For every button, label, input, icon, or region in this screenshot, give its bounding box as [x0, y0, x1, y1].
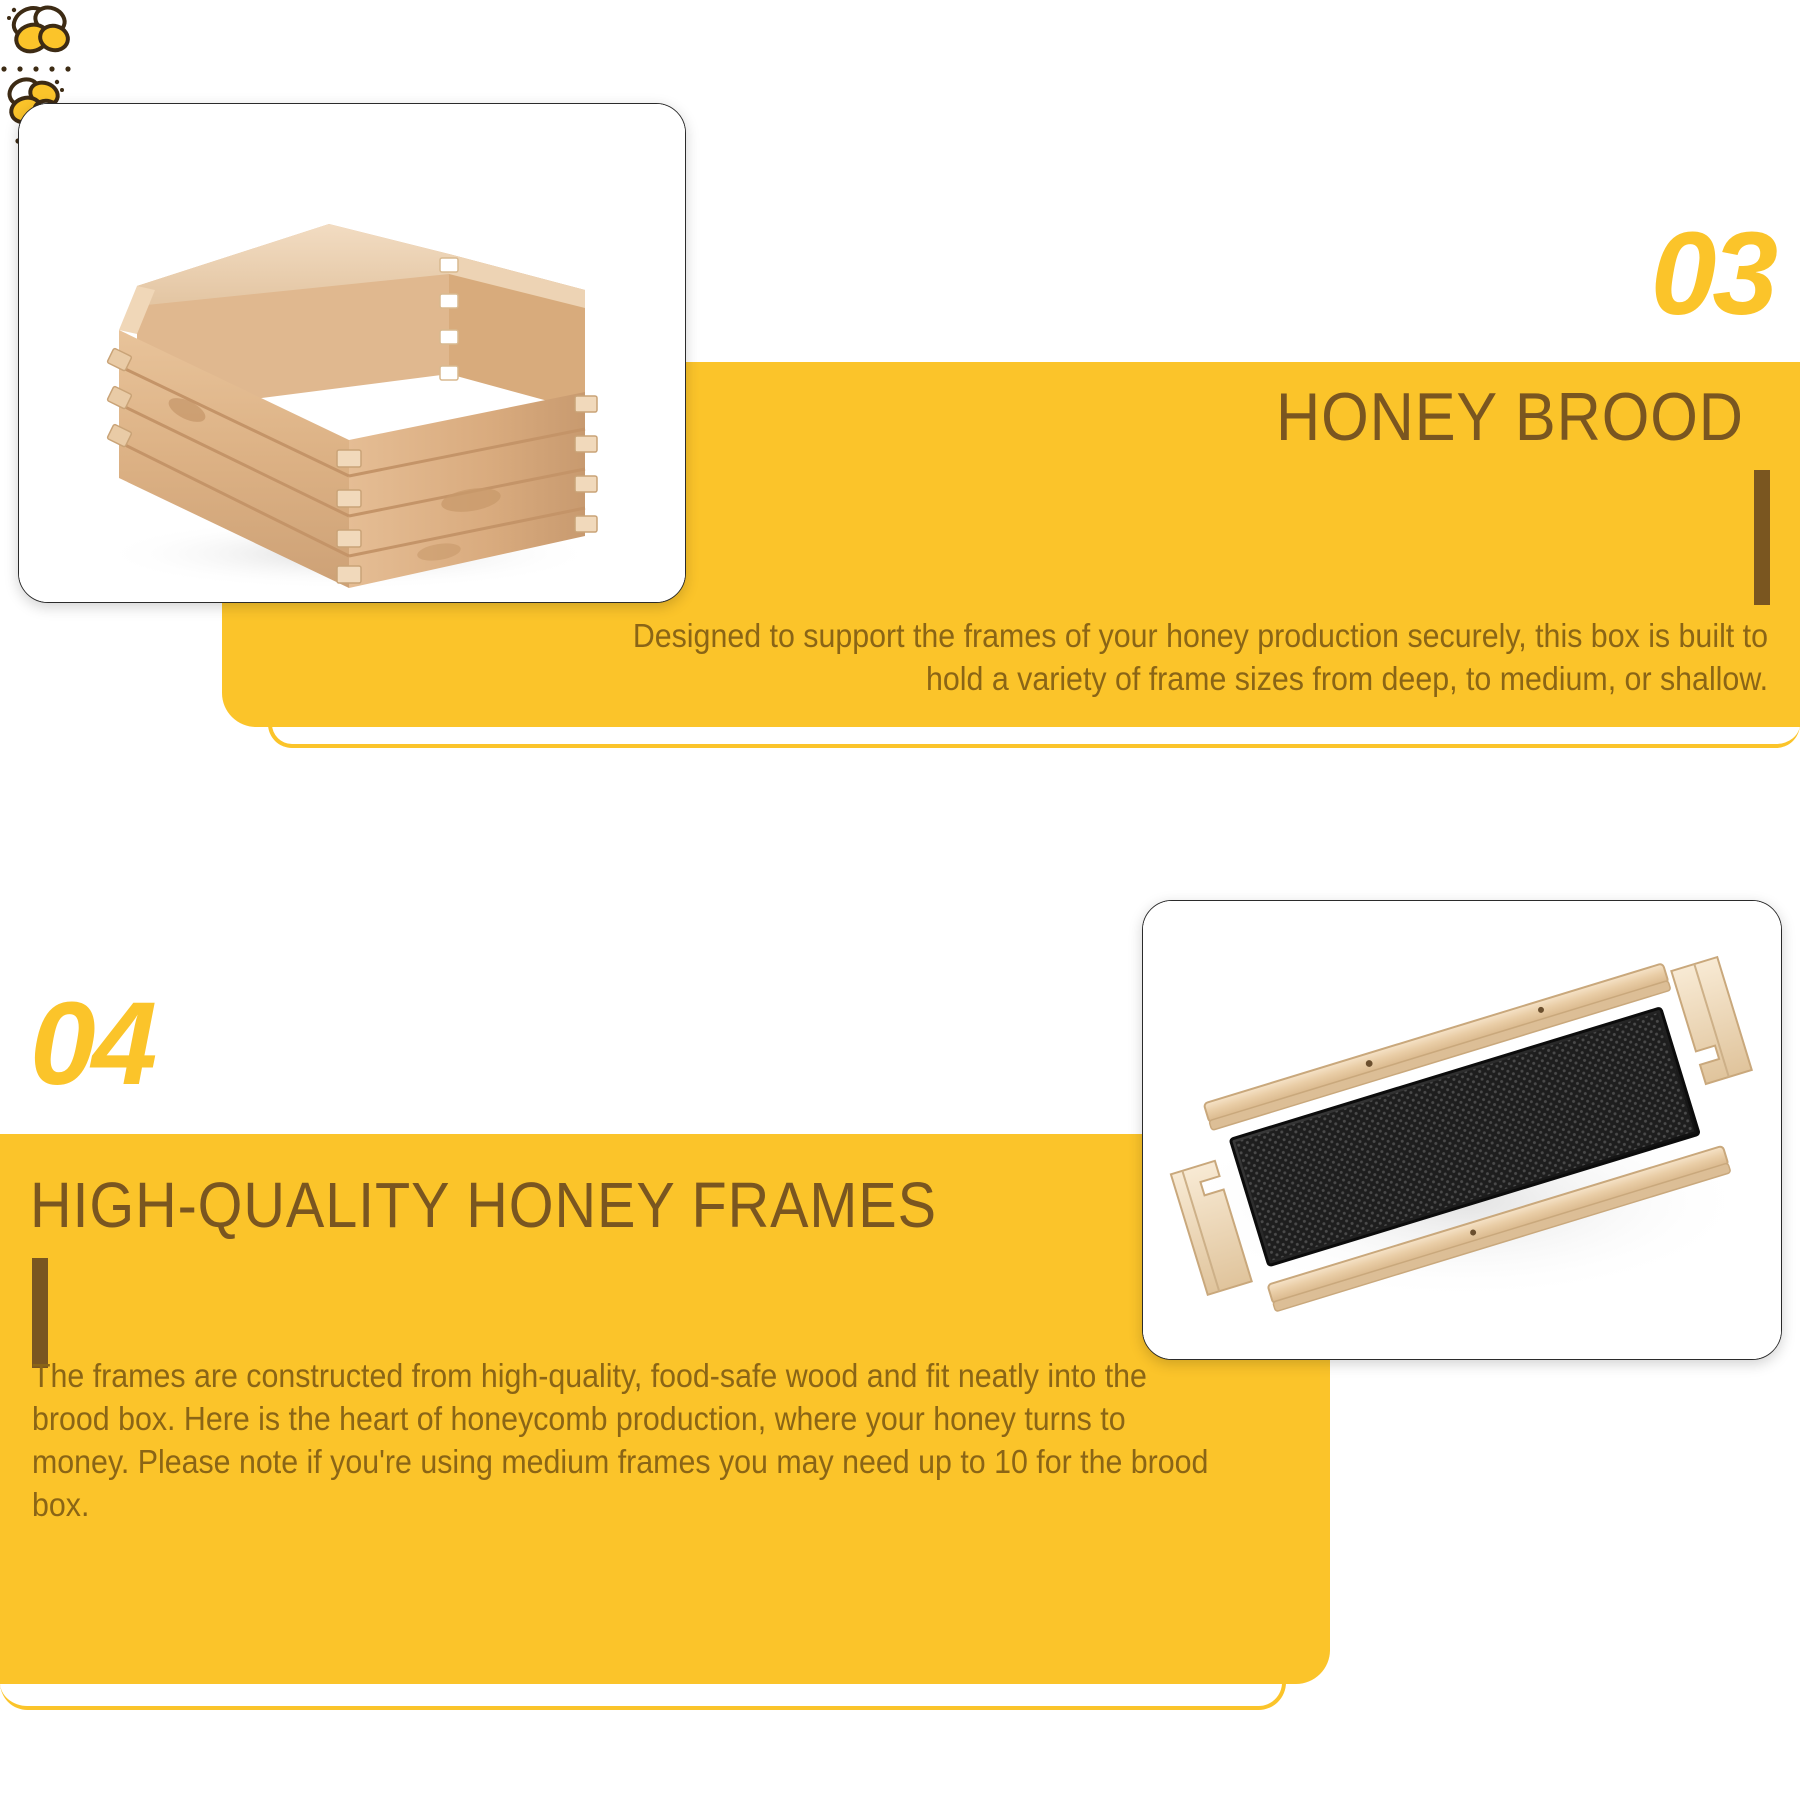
product-image-card-04: [1142, 900, 1782, 1360]
accent-bar-04: [32, 1258, 48, 1368]
dotted-trail-glyph: [0, 60, 86, 74]
section-body-04: The frames are constructed from high-qua…: [32, 1355, 1219, 1527]
section-title-03: HONEY BROOD: [1276, 378, 1744, 456]
brood-box-illustration: [19, 104, 686, 603]
section-number-03: 03: [1651, 215, 1774, 333]
brood-box-photo: [19, 104, 685, 602]
infographic-page: 03 HONEY BROOD: [0, 0, 1800, 1800]
honey-frame-illustration: [1143, 901, 1782, 1360]
section-number-04: 04: [30, 985, 153, 1103]
accent-bar-03: [1754, 470, 1770, 605]
bee-glyph: [0, 0, 76, 60]
dotted-trail-icon: [0, 60, 86, 74]
section-body-03: Designed to support the frames of your h…: [572, 615, 1768, 701]
honey-frame-photo: [1143, 901, 1781, 1359]
section-title-04: HIGH-QUALITY HONEY FRAMES: [30, 1168, 937, 1242]
bee-icon: [0, 0, 76, 60]
section-03: 03 HONEY BROOD: [0, 0, 1800, 74]
product-image-card-03: [18, 103, 686, 603]
